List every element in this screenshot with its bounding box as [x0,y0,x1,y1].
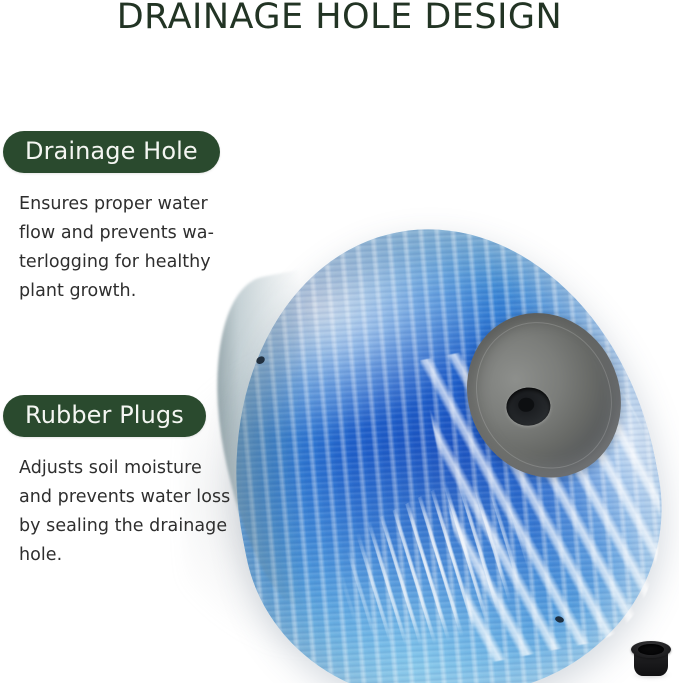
rubber-plug [631,641,671,678]
planter-pot [191,192,679,683]
rubber-plug-flange [631,641,671,658]
drainage-hole-opening [518,397,535,412]
drainage-hole [505,386,552,428]
feature-rubber-plugs: Rubber Plugs Adjusts soil moisture and p… [0,395,250,570]
badge-rubber-plugs: Rubber Plugs [3,395,206,437]
feature-drainage-hole: Drainage Hole Ensures proper water flow … [0,131,250,306]
feature-drainage-hole-description: Ensures proper water flow and prevents w… [19,190,235,306]
page-title: DRAINAGE HOLE DESIGN [0,0,679,38]
rubber-plug-bore [638,644,664,655]
badge-drainage-hole: Drainage Hole [3,131,220,173]
feature-rubber-plugs-description: Adjusts soil moisture and prevents water… [19,454,235,570]
